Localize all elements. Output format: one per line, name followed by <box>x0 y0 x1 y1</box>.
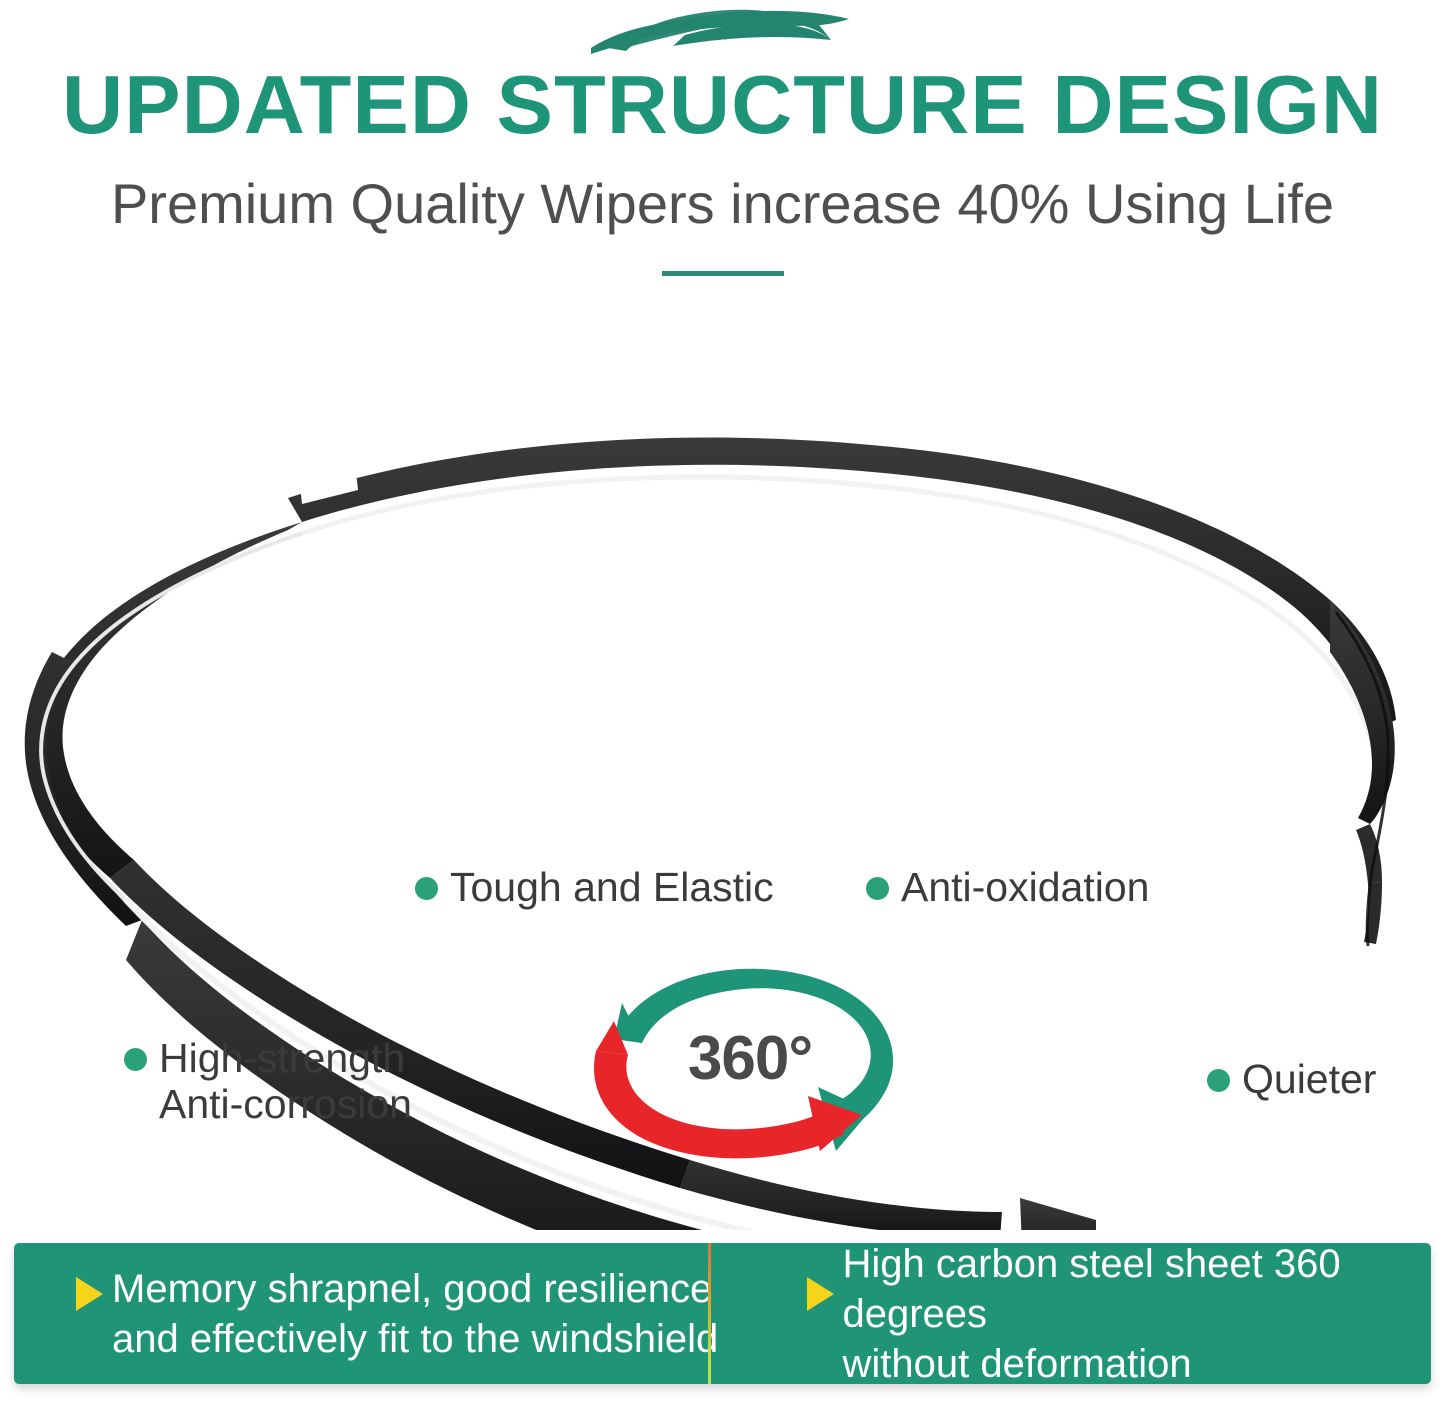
bullet-dot-icon <box>1207 1069 1230 1092</box>
triangle-bullet-icon <box>807 1277 834 1311</box>
feature-tough-and-elastic: Tough and Elastic <box>415 864 774 910</box>
feature-quieter: Quieter <box>1207 1056 1376 1102</box>
badge-360-degree: 360° <box>570 955 920 1165</box>
page-title: UPDATED STRUCTURE DESIGN <box>0 62 1445 148</box>
banner-item-text: Memory shrapnel, good resilience and eff… <box>112 1264 718 1364</box>
bottom-feature-banner: Memory shrapnel, good resilience and eff… <box>14 1243 1431 1384</box>
bullet-dot-icon <box>124 1048 147 1071</box>
feature-label: Tough and Elastic <box>450 864 774 910</box>
banner-item-text: High carbon steel sheet 360 degrees with… <box>843 1243 1432 1384</box>
product-image-section: Tough and Elastic Anti-oxidation High-st… <box>0 300 1445 1230</box>
title-divider <box>662 271 784 276</box>
feature-high-strength-anti-corrosion: High-strength Anti-corrosion <box>124 1035 412 1127</box>
bullet-dot-icon <box>866 877 889 900</box>
banner-divider <box>708 1243 711 1384</box>
feature-label: Anti-oxidation <box>901 864 1149 910</box>
bullet-dot-icon <box>415 877 438 900</box>
feature-label: High-strength Anti-corrosion <box>159 1035 412 1127</box>
banner-item-memory-shrapnel: Memory shrapnel, good resilience and eff… <box>14 1243 723 1384</box>
feature-anti-oxidation: Anti-oxidation <box>866 864 1149 910</box>
car-silhouette-icon <box>573 2 873 64</box>
feature-label: Quieter <box>1242 1056 1376 1102</box>
page-subtitle: Premium Quality Wipers increase 40% Usin… <box>0 172 1445 236</box>
triangle-bullet-icon <box>76 1277 103 1311</box>
header-section: UPDATED STRUCTURE DESIGN Premium Quality… <box>0 0 1445 300</box>
banner-item-high-carbon-steel: High carbon steel sheet 360 degrees with… <box>723 1243 1432 1384</box>
